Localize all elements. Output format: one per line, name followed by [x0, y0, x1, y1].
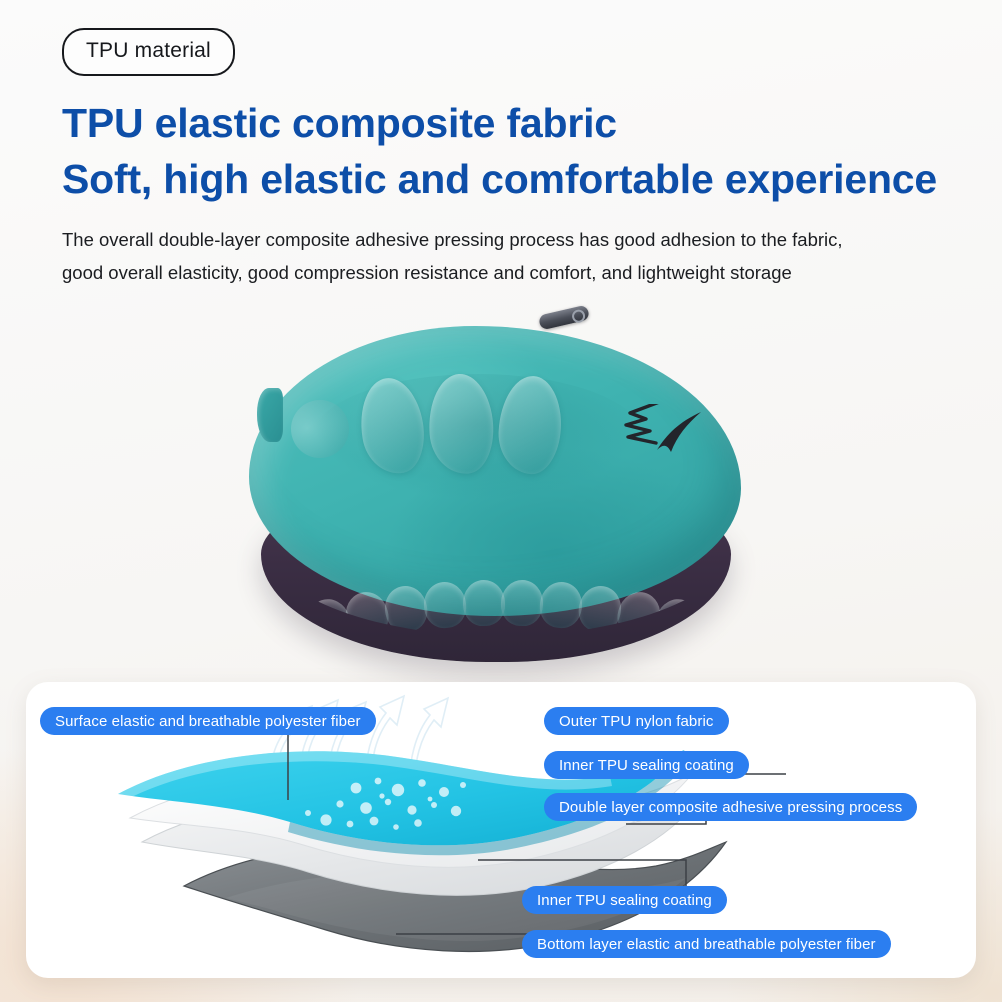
tpu-material-badge: TPU material: [62, 28, 235, 76]
pillow-seam-welt: [263, 540, 737, 636]
brand-logo: [601, 404, 713, 470]
header: TPU material TPU elastic composite fabri…: [0, 0, 1002, 290]
page-title: TPU elastic composite fabric Soft, high …: [62, 95, 946, 207]
pillow-seam-scallop: [422, 580, 469, 630]
layer-structure-card: Surface elastic and breathable polyester…: [26, 682, 976, 978]
infographic-page: TPU material TPU elastic composite fabri…: [0, 0, 1002, 1002]
label-inner-sealing-top: Inner TPU sealing coating: [544, 751, 749, 779]
description-line-1: The overall double-layer composite adhes…: [62, 229, 843, 250]
pillow-seam-scallop: [538, 580, 585, 630]
label-double-layer-process: Double layer composite adhesive pressing…: [544, 793, 917, 821]
label-bottom-polyester: Bottom layer elastic and breathable poly…: [522, 930, 891, 958]
fabric-layer-diagram: Surface elastic and breathable polyester…: [26, 682, 976, 978]
inflation-valve: [538, 305, 590, 331]
headline-line-1: TPU elastic composite fabric: [62, 100, 617, 146]
description-paragraph: The overall double-layer composite adhes…: [62, 224, 946, 290]
inflatable-pillow-image: [243, 300, 773, 660]
pillow-seam-scallop: [501, 580, 545, 628]
headline-line-2: Soft, high elastic and comfortable exper…: [62, 151, 946, 207]
pillow-side-tab: [257, 388, 283, 442]
label-inner-sealing-bottom: Inner TPU sealing coating: [522, 886, 727, 914]
label-outer-tpu-nylon: Outer TPU nylon fabric: [544, 707, 729, 735]
label-surface-polyester: Surface elastic and breathable polyester…: [40, 707, 376, 735]
description-line-2: good overall elasticity, good compressio…: [62, 257, 946, 290]
product-photo: [0, 292, 1002, 672]
pillow-body: [249, 326, 741, 616]
pillow-seam-scallop: [462, 580, 506, 628]
